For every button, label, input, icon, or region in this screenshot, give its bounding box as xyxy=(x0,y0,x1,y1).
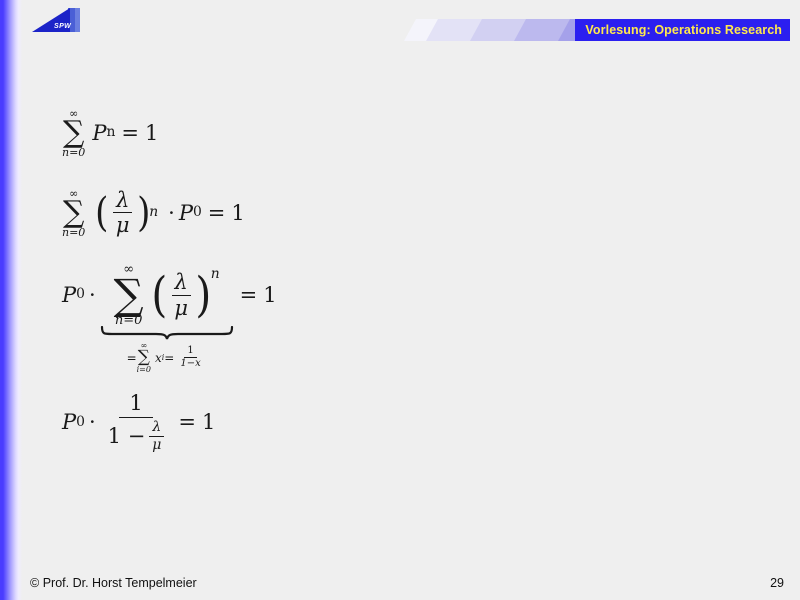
exponent: n xyxy=(149,206,158,220)
header-banner: Vorlesung: Operations Research xyxy=(404,19,790,41)
equals-sign: = xyxy=(115,121,145,145)
slide-footer: © Prof. Dr. Horst Tempelmeier 29 xyxy=(0,576,800,600)
sum-sigma-icon: ∑ xyxy=(114,276,144,315)
rhs-value: 1 xyxy=(231,201,244,225)
fraction-denominator: μ xyxy=(113,213,133,237)
sum-sigma-icon: ∑ xyxy=(63,199,84,227)
lambda-mu-fraction: λ μ xyxy=(110,189,136,237)
term-subscript: n xyxy=(106,126,115,140)
exponent: n xyxy=(211,268,220,282)
equals-sign: = xyxy=(202,201,232,225)
term-base: P xyxy=(92,121,106,145)
right-paren: ) xyxy=(195,276,211,314)
slide-header: SPW Vorlesung: Operations Research xyxy=(0,0,800,56)
equation-sum-ratio-p0: ∞ ∑ n=0 ( λ μ ) n · P0 = 1 xyxy=(62,182,245,238)
page-number: 29 xyxy=(770,576,784,590)
note-sum-sigma-icon: ∑ xyxy=(138,350,150,366)
footer-copyright: © Prof. Dr. Horst Tempelmeier xyxy=(30,576,197,590)
right-paren: ) xyxy=(137,197,150,229)
note-equals: = xyxy=(127,351,137,365)
lead-base: P xyxy=(62,283,76,307)
factor-base: P xyxy=(179,201,193,225)
note-equals-2: = xyxy=(164,351,174,365)
multiplication-dot: · xyxy=(164,201,179,225)
rhs-value: 1 xyxy=(145,121,158,145)
underbraced-group: ∞ ∑ n=0 ( λ μ ) n = xyxy=(100,262,234,374)
fraction-numerator: λ xyxy=(172,271,191,296)
sum-lower-limit: n=0 xyxy=(62,147,85,158)
note-sum-lower-limit: i=0 xyxy=(137,366,151,374)
footer-author: Prof. Dr. Horst Tempelmeier xyxy=(43,576,197,590)
lead-subscript: 0 xyxy=(76,416,85,430)
summation-operator: ∞ ∑ n=0 xyxy=(62,188,85,238)
note-geometric-fraction: 1 1−x xyxy=(174,346,206,371)
denominator-lambda-mu-fraction: λ μ xyxy=(145,420,164,453)
denominator-lead: 1 − xyxy=(108,425,146,448)
banner-title-text: Vorlesung: Operations Research xyxy=(585,23,782,37)
inner-fraction-denominator: μ xyxy=(149,437,164,453)
spw-triangles-logo: SPW xyxy=(30,6,90,40)
left-paren: ( xyxy=(151,276,167,314)
note-summation-operator: ∞ ∑ i=0 xyxy=(137,342,151,374)
slide-body: ∞ ∑ n=0 Pn = 1 ∞ ∑ n=0 ( λ μ ) n xyxy=(0,56,800,556)
banner-title-bar: Vorlesung: Operations Research xyxy=(575,19,790,41)
rhs-value: 1 xyxy=(202,410,215,434)
multiplication-dot: · xyxy=(85,410,100,434)
note-fraction-numerator: 1 xyxy=(184,346,196,359)
equals-sign: = xyxy=(172,410,202,434)
closed-form-fraction: 1 1 − λ μ xyxy=(100,392,173,453)
summation-operator: ∞ ∑ n=0 xyxy=(62,108,85,158)
sum-lower-limit: n=0 xyxy=(62,227,85,238)
fraction-numerator: λ xyxy=(113,189,132,214)
note-fraction-denominator: 1−x xyxy=(177,358,203,370)
rhs-value: 1 xyxy=(263,283,276,307)
copyright-icon: © xyxy=(30,576,39,590)
left-paren: ( xyxy=(95,197,108,229)
logo-label: SPW xyxy=(54,23,71,30)
multiplication-dot: · xyxy=(85,283,100,307)
note-term-base: x xyxy=(155,351,162,365)
fraction-numerator: 1 xyxy=(119,392,152,418)
equation-p0-closed-form: P0 · 1 1 − λ μ = 1 xyxy=(62,392,215,453)
lambda-mu-fraction: λ μ xyxy=(168,271,194,319)
equals-sign: = xyxy=(234,283,264,307)
lead-subscript: 0 xyxy=(76,288,85,302)
lead-base: P xyxy=(62,410,76,434)
factor-subscript: 0 xyxy=(193,206,202,220)
fraction-denominator: 1 − λ μ xyxy=(105,418,168,453)
summation-operator: ∞ ∑ n=0 xyxy=(114,263,144,328)
underbrace-annotation: = ∞ ∑ i=0 xi = 1 1−x xyxy=(127,342,207,374)
inner-fraction-numerator: λ xyxy=(149,420,164,437)
sum-sigma-icon: ∑ xyxy=(63,119,84,147)
fraction-denominator: μ xyxy=(171,296,191,320)
equation-p0-sum-underbrace: P0 · ∞ ∑ n=0 ( λ μ ) n xyxy=(62,262,277,374)
underbrace-icon xyxy=(100,326,234,340)
equation-sum-pn: ∞ ∑ n=0 Pn = 1 xyxy=(62,102,158,158)
